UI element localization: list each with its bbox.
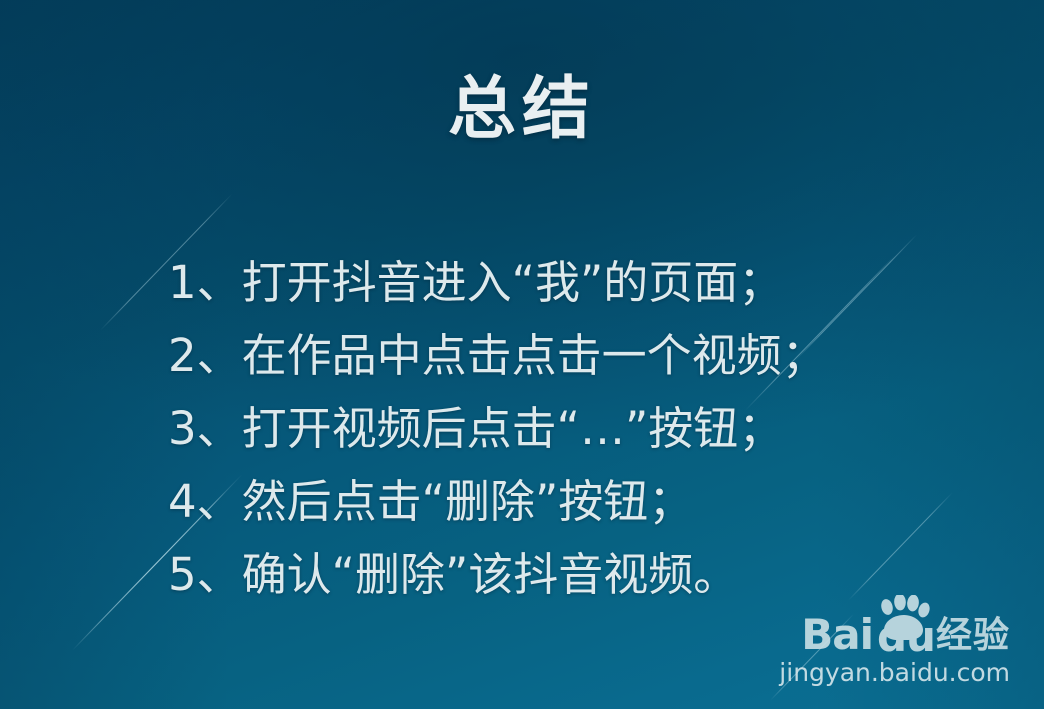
list-item: 3、打开视频后点击“…”按钮；	[168, 392, 968, 465]
baidu-jingyan-watermark: Bai du 经验 jingyan.baidu.com	[778, 609, 1010, 691]
watermark-brand-cn: 经验	[936, 615, 1010, 657]
list-item: 4、然后点击“删除”按钮；	[168, 465, 968, 538]
list-item: 2、在作品中点击点击一个视频；	[168, 319, 968, 392]
summary-step-list: 1、打开抖音进入“我”的页面； 2、在作品中点击点击一个视频； 3、打开视频后点…	[168, 246, 968, 611]
watermark-brand-du: du	[877, 617, 935, 657]
watermark-du-group: du	[874, 611, 930, 657]
watermark-url: jingyan.baidu.com	[778, 659, 1010, 687]
list-item: 1、打开抖音进入“我”的页面；	[168, 246, 968, 319]
page-title: 总结	[0, 72, 1044, 148]
presentation-slide: 总结 1、打开抖音进入“我”的页面； 2、在作品中点击点击一个视频； 3、打开视…	[0, 0, 1044, 709]
list-item: 5、确认“删除”该抖音视频。	[168, 538, 968, 611]
watermark-logo-row: Bai du 经验	[778, 609, 1010, 657]
watermark-brand-bai: Bai	[801, 613, 873, 657]
